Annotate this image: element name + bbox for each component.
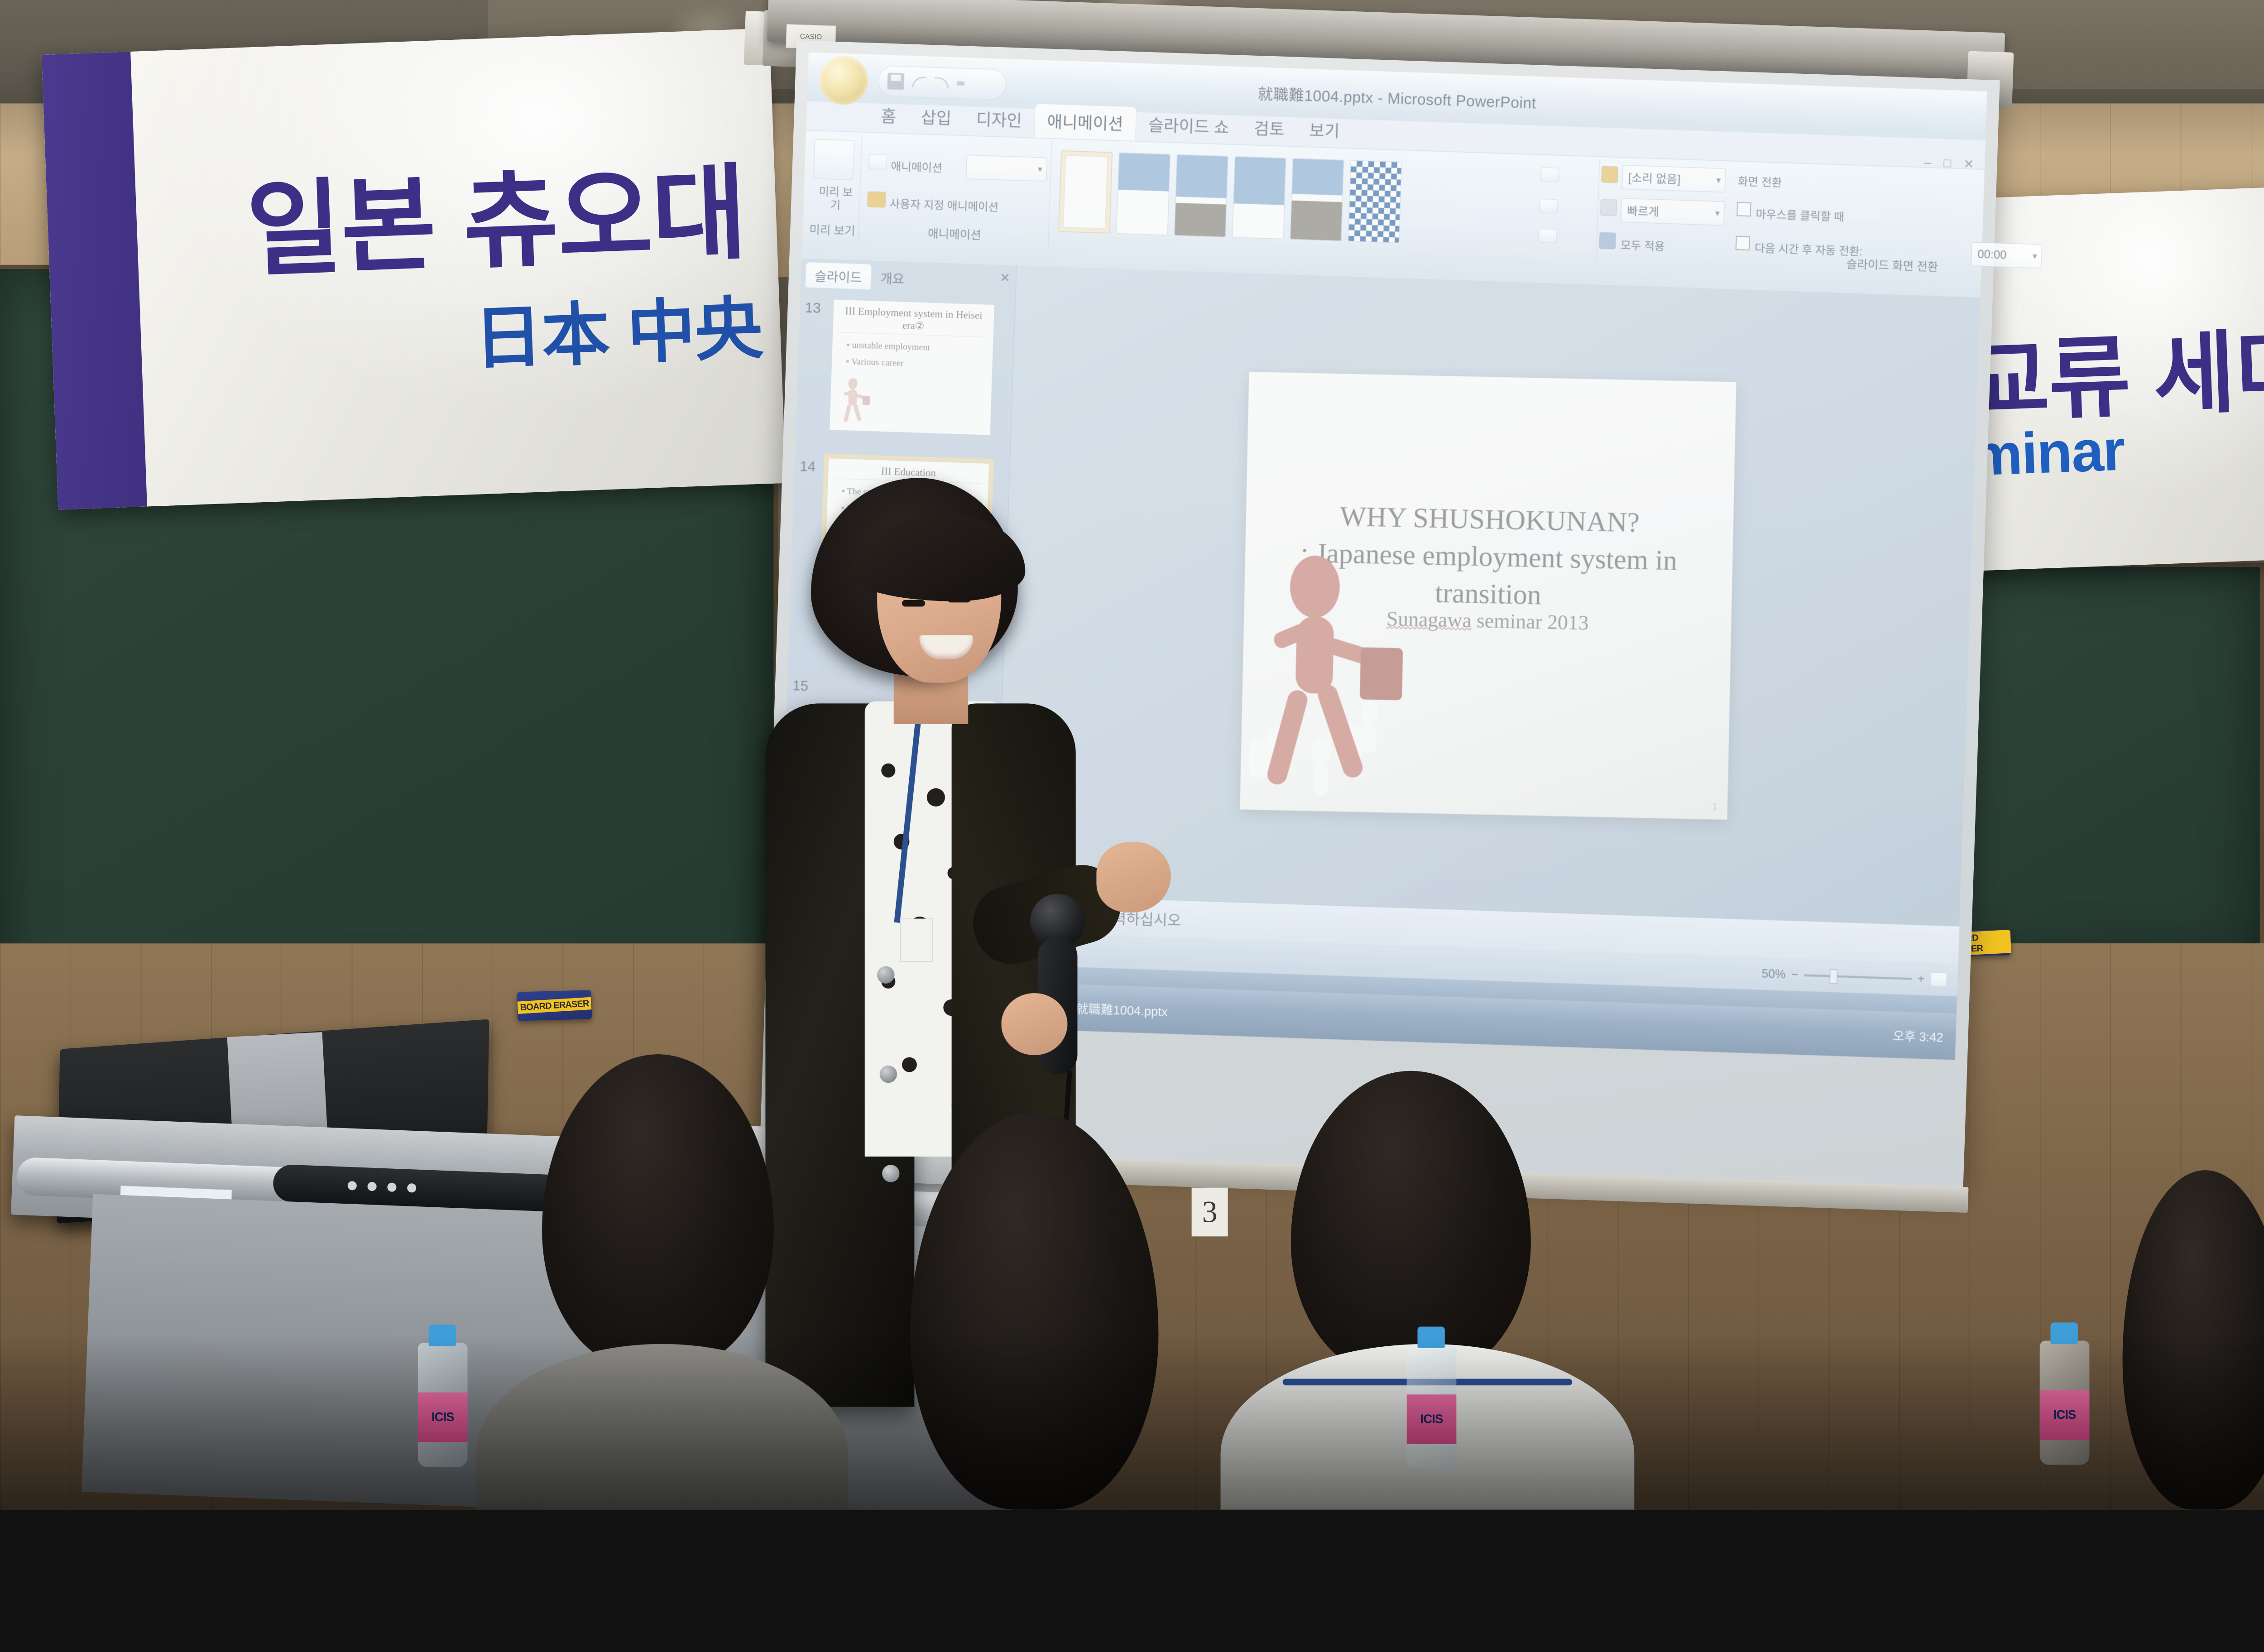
zoom-out-button[interactable]: − xyxy=(1791,968,1799,982)
board-eraser-box[interactable]: BOARD ERASER xyxy=(517,990,592,1021)
advance-on-click-checkbox[interactable] xyxy=(1736,202,1751,216)
seminar-room-photo: BOARD ERASER BOARD ERASER 일본 츄오대 日本 中央 그… xyxy=(0,0,2264,1509)
transition-thumb-3[interactable] xyxy=(1232,156,1286,239)
banner-left: 일본 츄오대 日本 中央 xyxy=(42,28,786,509)
preview-icon[interactable] xyxy=(814,139,855,180)
transition-thumb-4[interactable] xyxy=(1290,158,1344,241)
transition-sound-select[interactable]: [소리 없음] xyxy=(1621,165,1726,192)
tab-view[interactable]: 보기 xyxy=(1296,112,1353,148)
slide-editing-stage[interactable]: WHY SHUSHOKUNAN? : Japanese employment s… xyxy=(996,265,1980,926)
walking-businessman-graphic xyxy=(1248,545,1427,813)
ribbon-group-preview: 미리 보기 미리 보기 xyxy=(806,133,862,241)
current-slide[interactable]: WHY SHUSHOKUNAN? : Japanese employment s… xyxy=(1239,371,1736,820)
animate-icon[interactable] xyxy=(868,154,887,169)
tab-slideshow[interactable]: 슬라이드 쇼 xyxy=(1136,107,1242,145)
presenter-hand-gesturing xyxy=(1001,993,1067,1055)
thumbnail-bullets: unstable employment Various career xyxy=(838,339,986,371)
transition-gallery[interactable] xyxy=(1059,150,1402,243)
thumbnail-number: 14 xyxy=(795,457,821,475)
board-eraser-label: BOARD ERASER xyxy=(517,997,591,1014)
banner-left-japanese-title: 日本 中央 xyxy=(472,273,763,382)
ribbon-group-animation: 애니메이션 사용자 지정 애니메이션 애니메이션 xyxy=(860,135,1052,247)
audience-head xyxy=(1291,1071,1531,1377)
control-led xyxy=(407,1183,417,1193)
banner-left-korean-title: 일본 츄오대 xyxy=(244,129,748,297)
tab-review[interactable]: 검토 xyxy=(1241,110,1298,146)
panel-tabs[interactable]: 슬라이드 개요 xyxy=(805,262,914,291)
custom-animation-label[interactable]: 사용자 지정 애니메이션 xyxy=(889,195,999,215)
jacket-button xyxy=(877,966,894,984)
system-clock[interactable]: 오후 3:42 xyxy=(1893,1026,1944,1046)
thumbnail-number: 13 xyxy=(800,298,826,317)
zoom-slider-knob[interactable] xyxy=(1830,969,1837,984)
jacket-button xyxy=(880,1066,897,1083)
ribbon-group-label-animation: 애니메이션 xyxy=(860,222,1049,245)
transition-thumb-2[interactable] xyxy=(1174,154,1228,237)
panel-tab-outline[interactable]: 개요 xyxy=(871,264,914,291)
advance-slide-section-label: 화면 전환 xyxy=(1737,172,1782,190)
walking-businessman-icon xyxy=(836,378,873,424)
transition-thumb-none[interactable] xyxy=(1059,150,1113,233)
thumbnail-card[interactable]: III Employment system in Heisei era② uns… xyxy=(829,299,995,435)
gallery-scroll-up-icon[interactable] xyxy=(1540,167,1559,182)
animate-label[interactable]: 애니메이션 xyxy=(891,157,943,175)
transition-sound-icon[interactable] xyxy=(1601,166,1618,183)
zoom-level-label: 50% xyxy=(1761,967,1786,981)
gallery-scroll-down-icon[interactable] xyxy=(1539,199,1558,213)
transition-thumb-1[interactable] xyxy=(1116,153,1170,235)
transition-thumb-checker[interactable] xyxy=(1348,160,1402,243)
thumbnail-bullet: unstable employment xyxy=(846,339,986,355)
tab-home[interactable]: 홈 xyxy=(868,98,909,134)
transition-speed-select[interactable]: 빠르게 xyxy=(1621,198,1725,226)
advance-after-time-checkbox[interactable] xyxy=(1736,236,1750,250)
slide-page-number: 1 xyxy=(1712,801,1718,812)
taskbar-item-label: 就職難1004.pptx xyxy=(1076,999,1168,1020)
tab-insert[interactable]: 삽입 xyxy=(908,100,964,135)
zoom-slider[interactable]: 50% − + xyxy=(1761,967,1947,987)
presenter-name-badge xyxy=(900,919,932,962)
transition-speed-icon[interactable] xyxy=(1600,199,1617,216)
tab-animations[interactable]: 애니메이션 xyxy=(1034,103,1137,141)
foreground-shadow xyxy=(0,1336,2264,1510)
advance-on-click-label: 마우스를 클릭할 때 xyxy=(1756,205,1844,224)
ribbon-group-label-preview: 미리 보기 xyxy=(806,221,859,239)
ribbon-group-transitions xyxy=(1050,141,1600,265)
apply-to-all-icon[interactable] xyxy=(1599,232,1616,250)
apply-to-all-label[interactable]: 모두 적용 xyxy=(1621,236,1665,254)
tab-design[interactable]: 디자인 xyxy=(963,101,1035,138)
ribbon-group-transition-options: [소리 없음] 빠르게 모두 적용 화면 전환 마우스를 클릭할 때 다음 시간… xyxy=(1598,159,1825,273)
fit-slide-to-window-icon[interactable] xyxy=(1930,972,1947,987)
zoom-in-button[interactable]: + xyxy=(1917,972,1924,986)
animation-select[interactable] xyxy=(966,155,1047,182)
panel-tab-slides[interactable]: 슬라이드 xyxy=(805,262,872,289)
thumbnail-title: III Employment system in Heisei era② xyxy=(839,306,988,337)
zoom-slider-track[interactable] xyxy=(1804,974,1912,980)
custom-animation-icon[interactable] xyxy=(867,192,886,208)
control-led xyxy=(367,1182,377,1191)
gallery-expand-icon[interactable] xyxy=(1538,229,1557,243)
close-panel-icon[interactable]: ✕ xyxy=(999,271,1010,286)
preview-button-label[interactable]: 미리 보기 xyxy=(816,185,854,213)
slide-subtitle-rest: seminar 2013 xyxy=(1471,609,1589,634)
control-led xyxy=(347,1181,357,1191)
thumbnail-row[interactable]: 13 III Employment system in Heisei era② … xyxy=(796,298,995,436)
audience-head xyxy=(542,1054,774,1369)
control-led xyxy=(387,1182,397,1192)
thumbnail-bullet: Various career xyxy=(846,356,986,371)
